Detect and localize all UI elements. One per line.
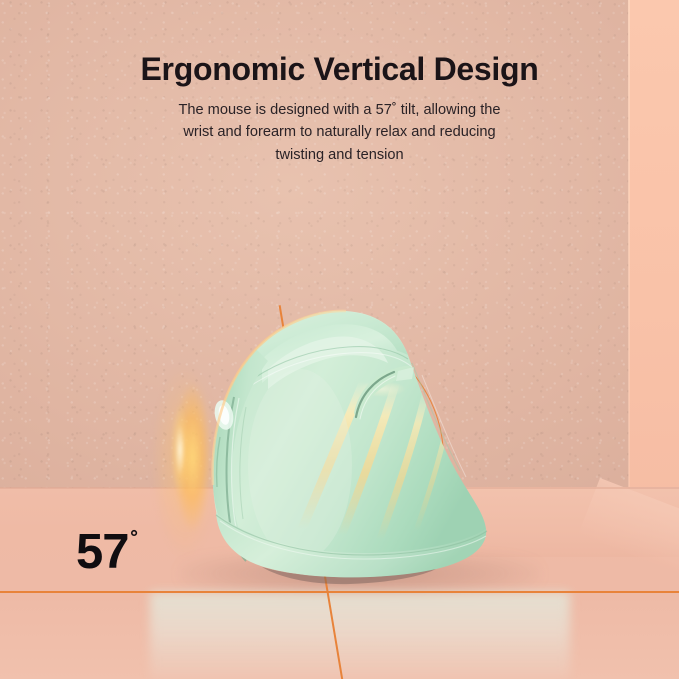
mouse-shell — [212, 311, 487, 584]
subtitle-line-3: twisting and tension — [140, 144, 540, 166]
copy-block: Ergonomic Vertical Design The mouse is d… — [0, 0, 679, 166]
angle-value: 57 — [76, 528, 129, 577]
vertical-mouse-product — [150, 285, 520, 590]
page-title: Ergonomic Vertical Design — [0, 52, 679, 87]
angle-label: 57 ˚ — [76, 528, 138, 577]
subtitle-line-1: The mouse is designed with a 57˚ tilt, a… — [140, 99, 540, 121]
angle-baseline — [0, 591, 679, 593]
degree-symbol: ˚ — [131, 530, 138, 555]
page-subtitle: The mouse is designed with a 57˚ tilt, a… — [140, 99, 540, 166]
product-marketing-image: Ergonomic Vertical Design The mouse is d… — [0, 0, 679, 679]
product-reflection — [150, 592, 570, 679]
subtitle-line-2: wrist and forearm to naturally relax and… — [140, 121, 540, 143]
